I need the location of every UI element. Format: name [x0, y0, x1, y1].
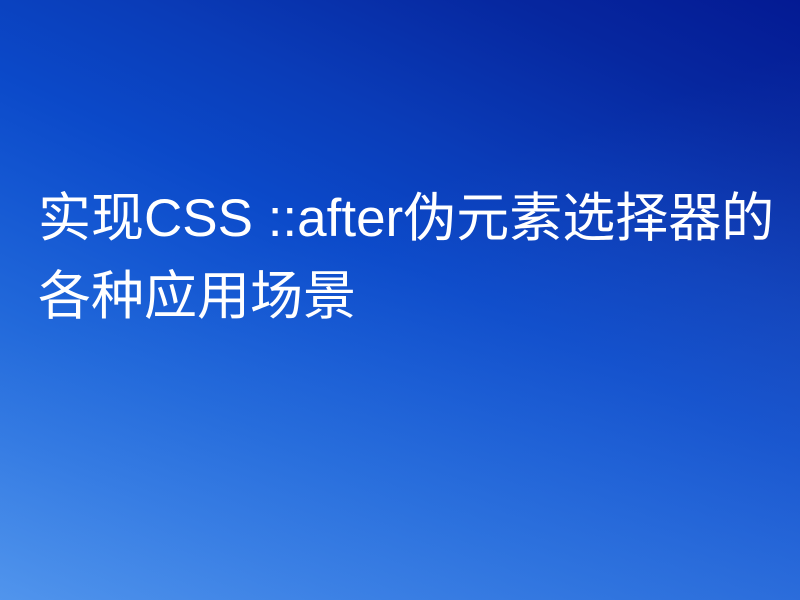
title-block: 实现CSS ::after伪元素选择器的各种应用场景	[38, 180, 778, 336]
page-title: 实现CSS ::after伪元素选择器的各种应用场景	[38, 180, 778, 336]
cover-banner: 实现CSS ::after伪元素选择器的各种应用场景	[0, 0, 800, 600]
